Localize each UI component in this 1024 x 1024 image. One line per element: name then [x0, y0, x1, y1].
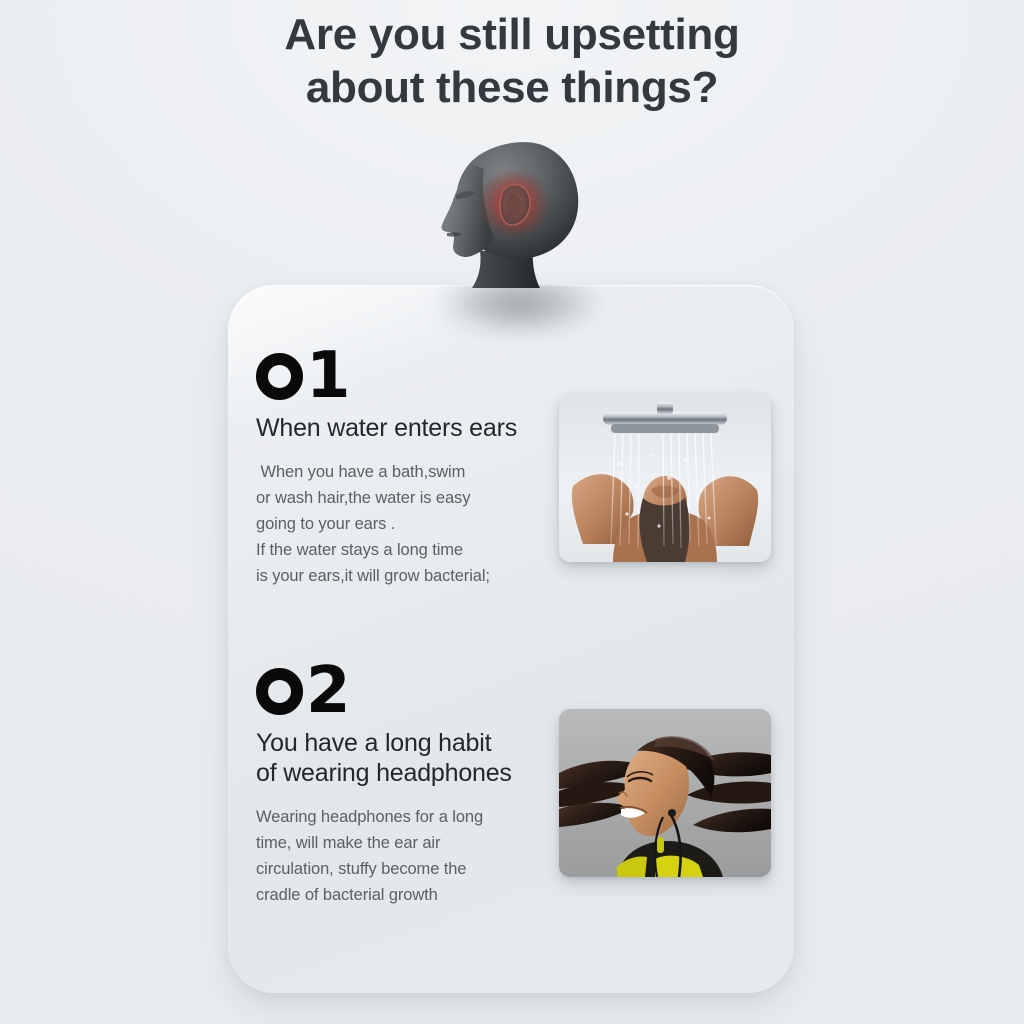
section-02-title-line-1: You have a long habit — [256, 728, 512, 758]
section-01-body-line-4: If the water stays a long time — [256, 537, 517, 563]
section-01-title-line-1: When water enters ears — [256, 413, 517, 443]
section-01-body: When you have a bath,swim or wash hair,t… — [256, 459, 517, 589]
section-02-body-line-3: circulation, stuffy become the — [256, 856, 512, 882]
head-drop-shadow — [410, 285, 628, 347]
woman-with-flowing-hair-wearing-earphones-photo — [559, 709, 771, 877]
headline-line-2: about these things? — [0, 61, 1024, 114]
section-02-title: You have a long habit of wearing headpho… — [256, 728, 512, 788]
section-01-title: When water enters ears — [256, 413, 517, 443]
section-02-number: 2 — [256, 660, 512, 722]
section-01-number-zero — [256, 353, 303, 400]
section-02-body-line-4: cradle of bacterial growth — [256, 882, 512, 908]
section-01: 1 When water enters ears When you have a… — [256, 345, 517, 589]
page-title: Are you still upsetting about these thin… — [0, 8, 1024, 114]
section-01-body-line-2: or wash hair,the water is easy — [256, 485, 517, 511]
section-01-number: 1 — [256, 345, 517, 407]
section-02-number-zero — [256, 668, 303, 715]
woman-showering-under-rainfall-showerhead-photo — [559, 394, 771, 562]
section-01-number-digit: 1 — [306, 347, 350, 405]
section-02-body: Wearing headphones for a long time, will… — [256, 804, 512, 908]
section-01-body-line-1: When you have a bath,swim — [256, 459, 517, 485]
section-02-title-line-2: of wearing headphones — [256, 758, 512, 788]
section-01-body-line-3: going to your ears . — [256, 511, 517, 537]
section-02-number-digit: 2 — [306, 662, 350, 720]
infographic-page: Are you still upsetting about these thin… — [0, 0, 1024, 1024]
headline-line-1: Are you still upsetting — [0, 8, 1024, 61]
human-head-profile-with-red-ear-pain-icon — [422, 133, 602, 293]
content-card: 1 When water enters ears When you have a… — [228, 285, 794, 993]
section-01-body-line-5: is your ears,it will grow bacterial; — [256, 563, 517, 589]
section-02-body-line-1: Wearing headphones for a long — [256, 804, 512, 830]
section-02: 2 You have a long habit of wearing headp… — [256, 660, 512, 908]
section-02-body-line-2: time, will make the ear air — [256, 830, 512, 856]
